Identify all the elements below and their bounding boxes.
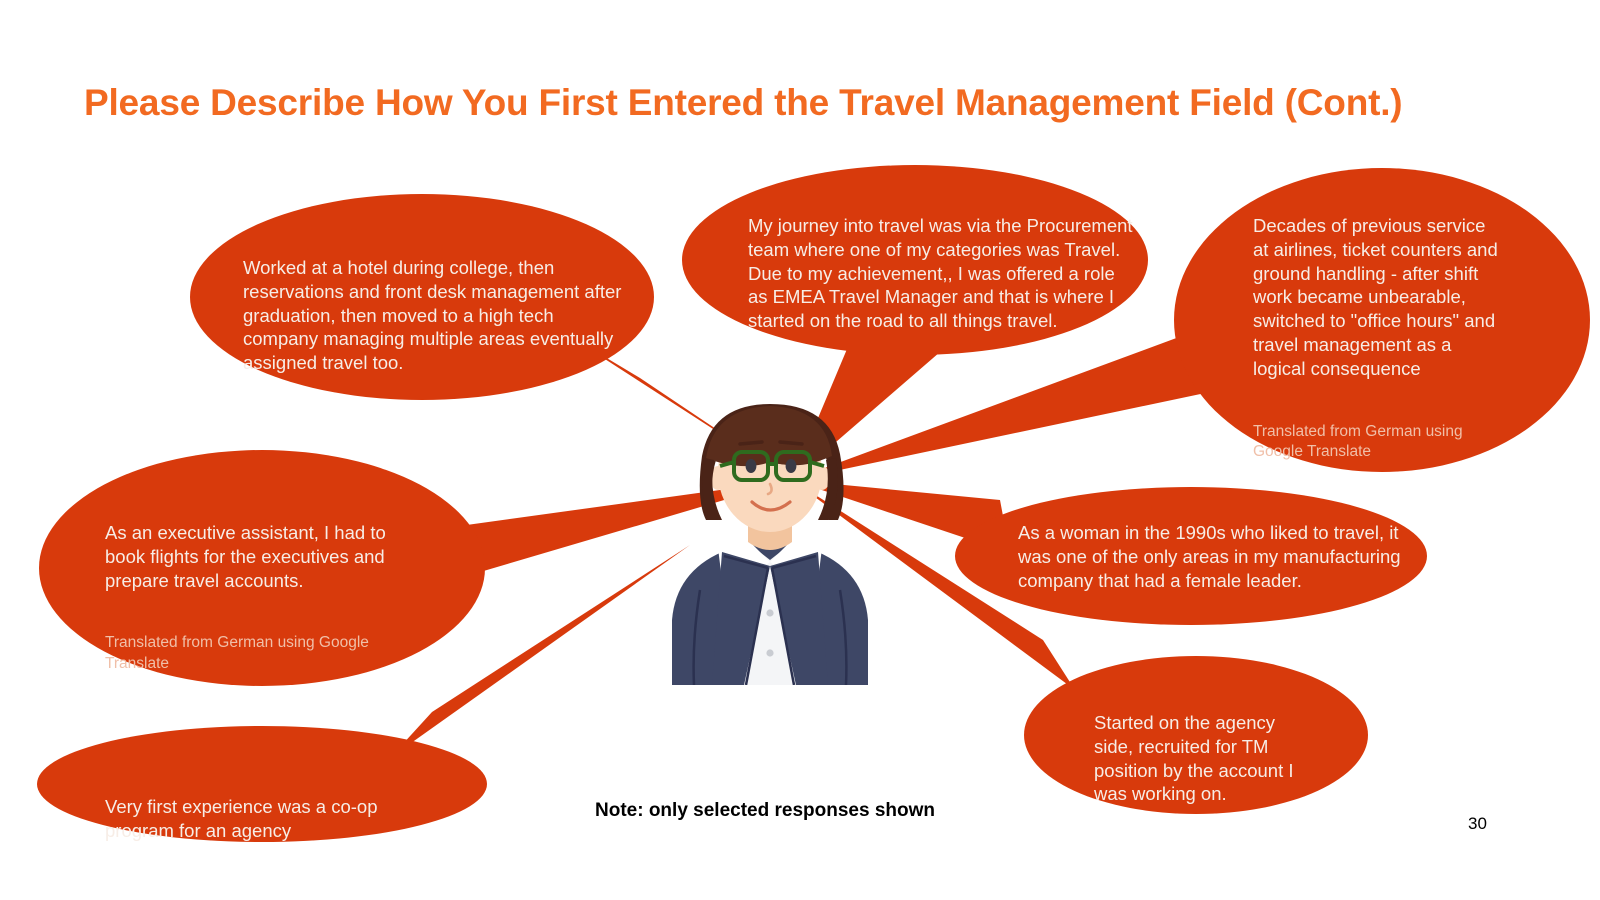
- eyebrow-right: [780, 442, 802, 444]
- page-number: 30: [1468, 814, 1487, 834]
- bubble-note-executive-assistant: Translated from German using Google Tran…: [105, 633, 425, 674]
- bubble-body-procurement-emea: My journey into travel was via the Procu…: [748, 214, 1138, 333]
- bubble-text-coop-program: Very first experience was a co-op progra…: [105, 771, 415, 866]
- bubble-body-hotel-college: Worked at a hotel during college, then r…: [243, 256, 625, 375]
- eye-left: [746, 459, 757, 473]
- bubble-text-executive-assistant: As an executive assistant, I had to book…: [105, 497, 425, 698]
- bubble-body-executive-assistant: As an executive assistant, I had to book…: [105, 521, 425, 593]
- bubble-body-woman-1990s: As a woman in the 1990s who liked to tra…: [1018, 521, 1408, 593]
- footer-note: Note: only selected responses shown: [595, 800, 935, 822]
- shirt-button-top: [766, 609, 773, 616]
- shirt-button-bottom: [766, 649, 773, 656]
- bubble-body-airlines-decades: Decades of previous service at airlines,…: [1253, 214, 1501, 381]
- bubble-body-agency-side-tm: Started on the agency side, recruited fo…: [1094, 711, 1299, 806]
- bubble-text-agency-side-tm: Started on the agency side, recruited fo…: [1094, 687, 1299, 830]
- bubble-text-airlines-decades: Decades of previous service at airlines,…: [1253, 190, 1501, 487]
- eye-right: [786, 459, 797, 473]
- slide-canvas: Please Describe How You First Entered th…: [0, 0, 1600, 900]
- bubble-body-coop-program: Very first experience was a co-op progra…: [105, 795, 415, 843]
- woman-with-glasses-illustration: [672, 404, 868, 685]
- bubble-text-woman-1990s: As a woman in the 1990s who liked to tra…: [1018, 497, 1408, 616]
- bubble-text-hotel-college: Worked at a hotel during college, then r…: [243, 232, 625, 399]
- bubble-note-airlines-decades: Translated from German using Google Tran…: [1253, 422, 1501, 463]
- eyebrow-left: [740, 442, 762, 444]
- bubble-text-procurement-emea: My journey into travel was via the Procu…: [748, 190, 1138, 357]
